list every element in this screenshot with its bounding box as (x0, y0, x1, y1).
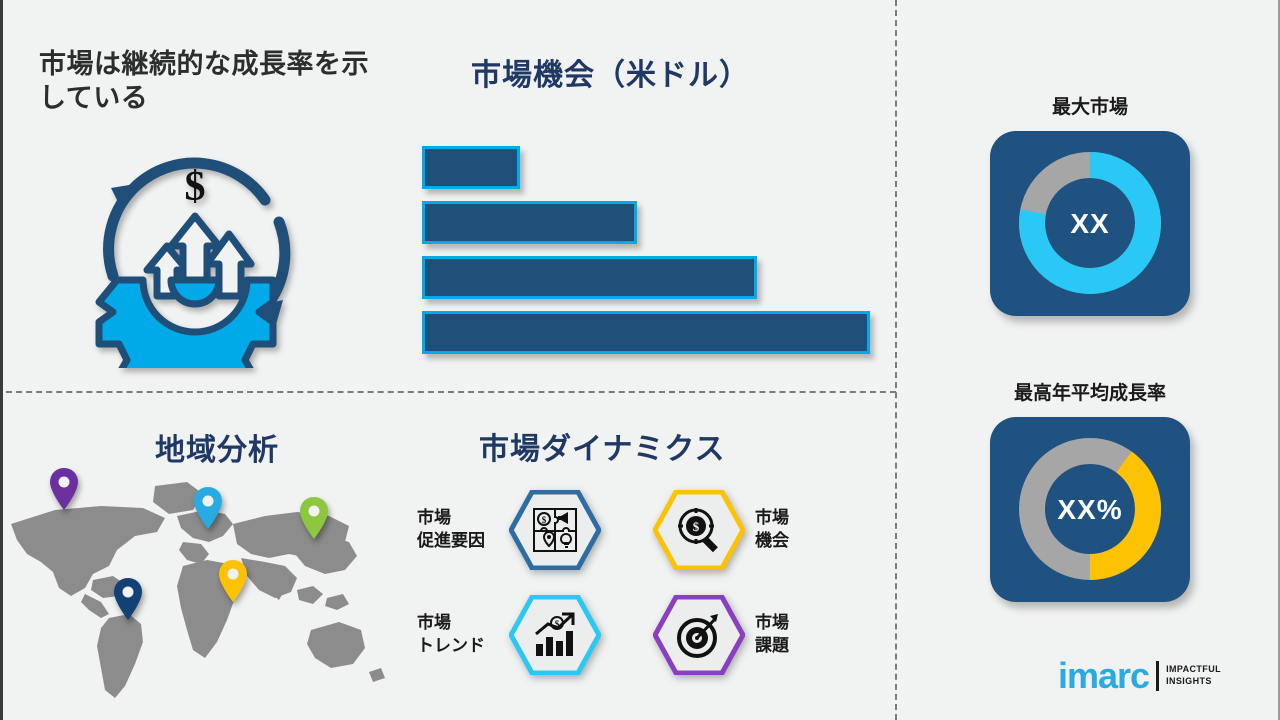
donut-block-largest-market: 最大市場 XX (990, 92, 1190, 316)
growth-headline: 市場は継続的な成長率を示している (39, 48, 389, 116)
donut-value-highest-cagr: XX% (990, 494, 1190, 526)
dynamics-label-drivers: 市場 促進要因 (417, 507, 509, 553)
bar-row (422, 201, 882, 244)
dynamics-item-opportunities[interactable]: $ 市場 機会 (653, 490, 847, 570)
logo-divider (1156, 661, 1159, 691)
svg-text:$: $ (185, 164, 206, 210)
imarc-logo: imarc IMPACTFUL INSIGHTS (1058, 658, 1221, 694)
bar-3 (422, 256, 757, 299)
bar-2 (422, 201, 637, 244)
dynamics-title: 市場ダイナミクス (479, 424, 726, 468)
svg-text:$: $ (693, 519, 700, 534)
growth-gear-arrows-icon: $ (75, 128, 315, 368)
puzzle-drivers-icon: $ (532, 507, 578, 553)
pin-europe[interactable] (193, 487, 223, 529)
hexagon-challenges[interactable] (653, 595, 745, 675)
donut-card-highest-cagr: XX% (990, 417, 1190, 602)
infographic-slide: 市場は継続的な成長率を示している $ 市場機会（米ドル） (0, 0, 1280, 720)
logo-tagline: IMPACTFUL INSIGHTS (1166, 664, 1221, 687)
hexagon-trends[interactable]: $ (509, 595, 601, 675)
dynamics-label-opportunities: 市場 機会 (755, 507, 847, 553)
bar-chart-growth-icon: $ (532, 612, 578, 658)
vertical-divider (895, 0, 897, 720)
bar-1 (422, 146, 520, 189)
horizontal-divider (6, 391, 896, 393)
dynamics-label-trends: 市場 トレンド (417, 612, 509, 658)
market-opportunity-bar-chart (422, 146, 882, 351)
target-dart-icon (676, 612, 722, 658)
hexagon-drivers[interactable]: $ (509, 490, 601, 570)
magnifier-dollar-icon: $ (676, 507, 722, 553)
bar-row (422, 256, 882, 299)
bar-row (422, 146, 882, 189)
donut-card-largest-market: XX (990, 131, 1190, 316)
opportunity-title: 市場機会（米ドル） (471, 50, 750, 94)
pin-east-asia[interactable] (299, 497, 329, 539)
dynamics-item-trends[interactable]: 市場 トレンド $ (417, 595, 601, 675)
logo-wordmark: imarc (1058, 658, 1149, 694)
donut-caption-highest-cagr: 最高年平均成長率 (990, 378, 1190, 405)
pin-middle-east-africa[interactable] (218, 560, 248, 602)
hexagon-opportunities[interactable]: $ (653, 490, 745, 570)
bar-4 (422, 311, 870, 354)
dynamics-item-challenges[interactable]: 市場 課題 (653, 595, 847, 675)
svg-text:$: $ (542, 515, 547, 525)
pin-north-america[interactable] (49, 468, 79, 510)
svg-text:$: $ (555, 619, 560, 629)
pin-south-america[interactable] (113, 578, 143, 620)
donut-caption-largest-market: 最大市場 (990, 92, 1190, 119)
dynamics-label-challenges: 市場 課題 (755, 612, 847, 658)
donut-block-highest-cagr: 最高年平均成長率 XX% (990, 378, 1190, 602)
bar-row (422, 311, 882, 354)
dynamics-item-drivers[interactable]: 市場 促進要因 $ (417, 490, 601, 570)
donut-value-largest-market: XX (990, 208, 1190, 240)
